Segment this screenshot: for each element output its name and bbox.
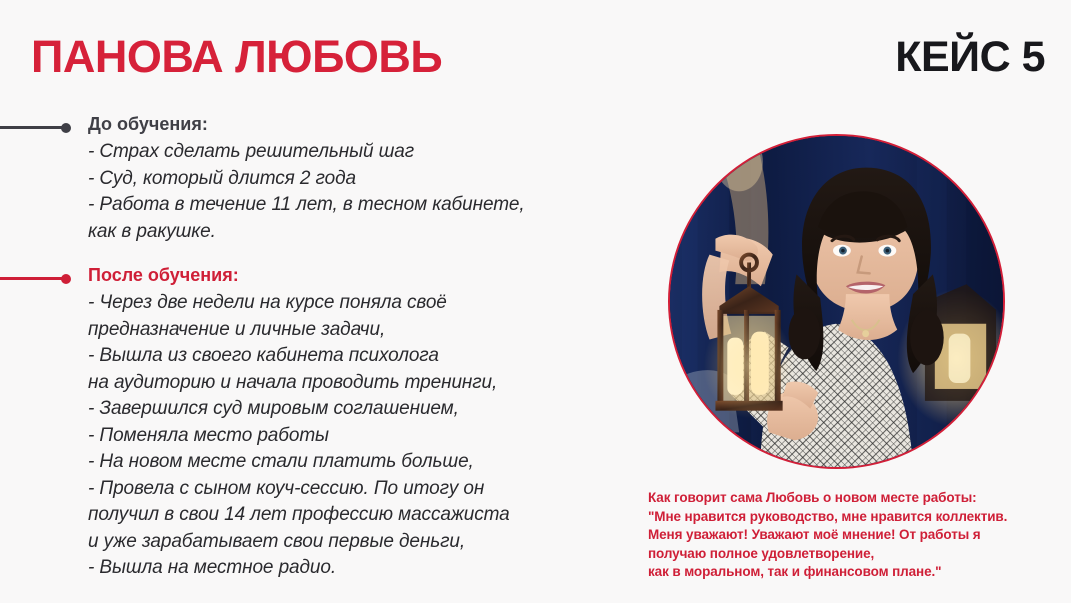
portrait-photo <box>668 134 1005 469</box>
before-section-body: - Страх сделать решительный шаг - Суд, к… <box>88 139 648 245</box>
before-section-rule <box>0 126 67 129</box>
bullet-dot-icon <box>61 123 71 133</box>
rule-line <box>0 126 67 129</box>
case-number-title: КЕЙС 5 <box>895 36 1045 79</box>
page-title: ПАНОВА ЛЮБОВЬ <box>31 34 442 79</box>
after-section: После обучения: - Через две недели на ку… <box>88 263 648 582</box>
before-section-heading: До обучения: <box>88 112 648 137</box>
after-section-body: - Через две недели на курсе поняла своё … <box>88 290 648 582</box>
after-section-heading: После обучения: <box>88 263 648 288</box>
rule-line <box>0 277 67 280</box>
testimonial-quote: Как говорит сама Любовь о новом месте ра… <box>648 489 1058 582</box>
after-section-rule <box>0 277 67 280</box>
portrait-illustration <box>670 136 1003 467</box>
before-section: До обучения: - Страх сделать решительный… <box>88 112 648 245</box>
slide-canvas: ПАНОВА ЛЮБОВЬ КЕЙС 5 До обучения: - Стра… <box>0 0 1071 603</box>
bullet-dot-icon <box>61 274 71 284</box>
